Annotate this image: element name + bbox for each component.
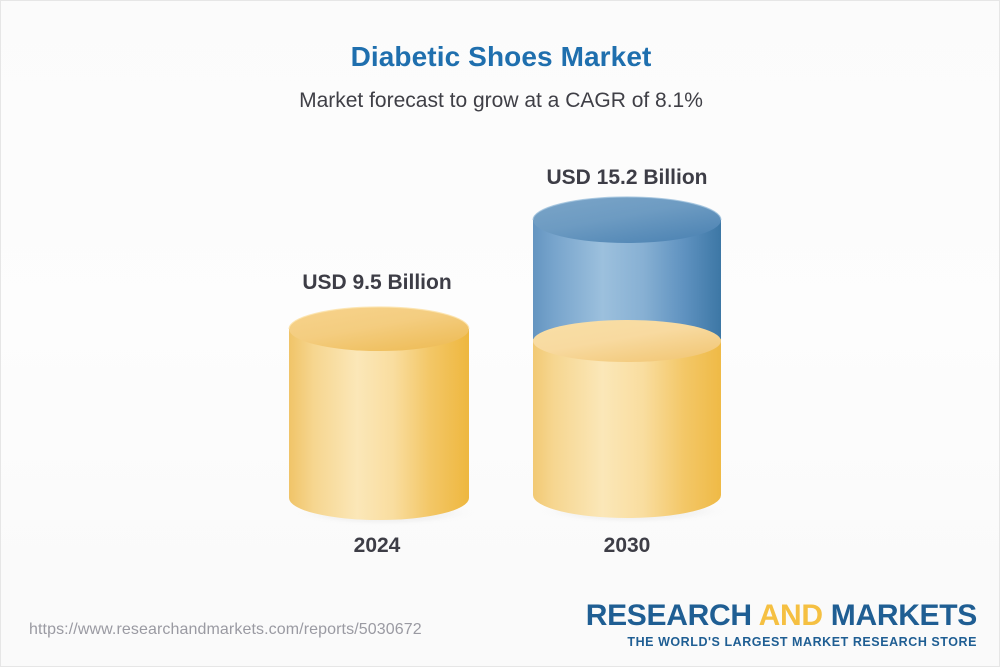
logo-word-and: AND <box>759 599 823 632</box>
chart-title: Diabetic Shoes Market <box>1 41 1000 73</box>
chart-canvas: Diabetic Shoes Market Market forecast to… <box>0 0 1000 667</box>
logo-word-research: RESEARCH <box>586 599 759 632</box>
source-url[interactable]: https://www.researchandmarkets.com/repor… <box>29 621 422 639</box>
chart-subtitle: Market forecast to grow at a CAGR of 8.1… <box>1 89 1000 113</box>
bar-cylinder-2030 <box>525 195 729 527</box>
cylinder-body <box>289 329 469 520</box>
logo-tagline: THE WORLD'S LARGEST MARKET RESEARCH STOR… <box>586 636 977 649</box>
category-label-2030: 2030 <box>525 534 729 558</box>
category-label-2024: 2024 <box>279 534 475 558</box>
value-label-2024: USD 9.5 Billion <box>279 271 475 295</box>
bar-cylinder-2024 <box>281 306 477 526</box>
logo-wordmark: RESEARCH AND MARKETS <box>586 601 977 631</box>
plot-area: Diabetic Shoes Market Market forecast to… <box>1 1 1000 591</box>
research-and-markets-logo[interactable]: RESEARCH AND MARKETS THE WORLD'S LARGEST… <box>586 601 977 649</box>
segment-boundary-cap <box>533 320 721 362</box>
value-label-2030: USD 15.2 Billion <box>525 166 729 190</box>
logo-word-markets: MARKETS <box>823 599 977 632</box>
cylinder-segment-base <box>525 339 729 527</box>
